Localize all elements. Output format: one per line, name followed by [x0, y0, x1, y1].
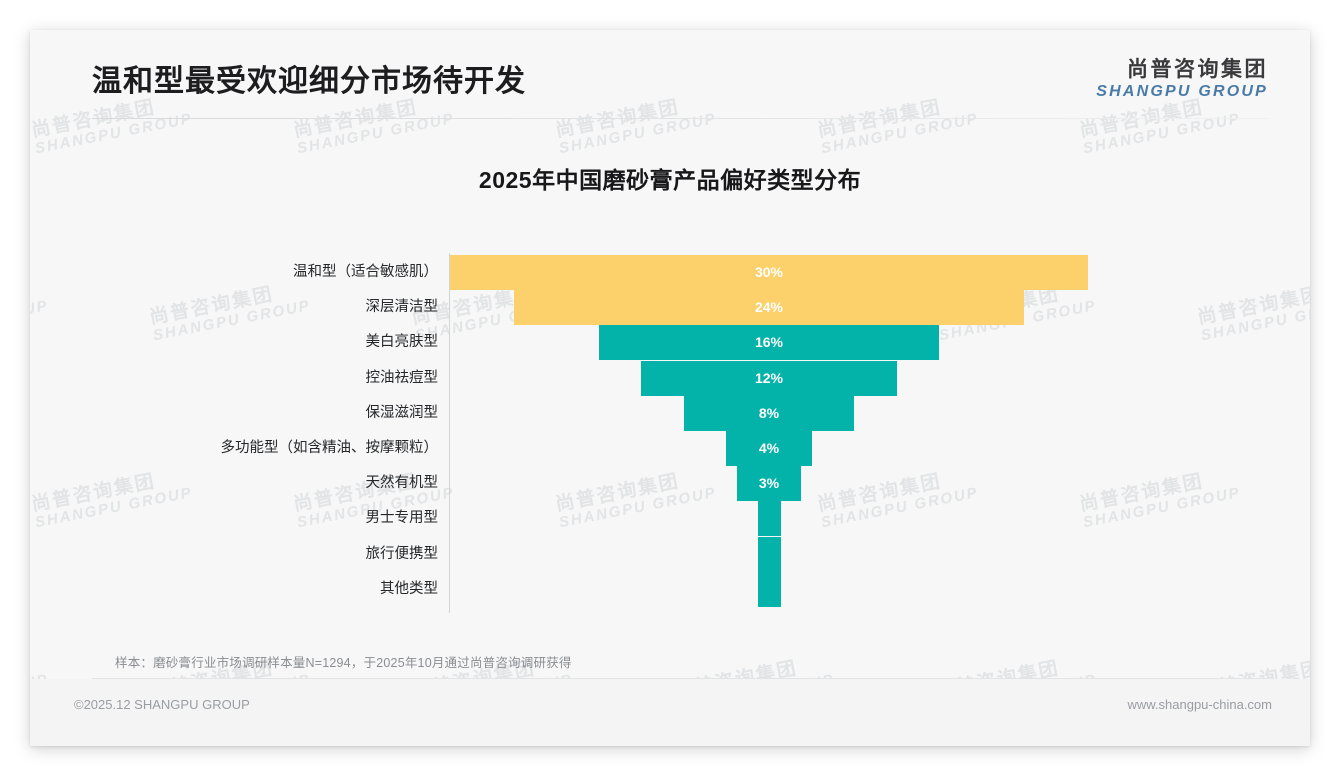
slide-footer: ©2025.12 SHANGPU GROUP www.shangpu-china…: [30, 679, 1310, 746]
bar[interactable]: [758, 501, 781, 536]
bar-row: 旅行便携型: [30, 537, 1310, 572]
bar-row: 美白亮肤型16%: [30, 325, 1310, 360]
chart-area: 2025年中国磨砂膏产品偏好类型分布 温和型（适合敏感肌）30%深层清洁型24%…: [30, 119, 1310, 679]
bar-category-label: 男士专用型: [366, 501, 452, 536]
bar-row: 天然有机型3%: [30, 466, 1310, 501]
bar-category-label: 旅行便携型: [366, 537, 452, 572]
slide-canvas: 尚普咨询集团SHANGPU GROUP尚普咨询集团SHANGPU GROUP尚普…: [30, 30, 1310, 746]
brand-logo-cn: 尚普咨询集团: [1096, 58, 1268, 82]
bar-value-label: 30%: [450, 255, 1088, 290]
brand-logo: 尚普咨询集团 SHANGPU GROUP: [1096, 58, 1268, 101]
bar-row: 温和型（适合敏感肌）30%: [30, 255, 1310, 290]
bar-category-label: 控油祛痘型: [366, 361, 452, 396]
funnel-bar-chart: 温和型（适合敏感肌）30%深层清洁型24%美白亮肤型16%控油祛痘型12%保湿滋…: [30, 251, 1310, 623]
bar-row: 控油祛痘型12%: [30, 361, 1310, 396]
bar-category-label: 深层清洁型: [366, 290, 452, 325]
brand-logo-en: SHANGPU GROUP: [1096, 82, 1268, 101]
bar[interactable]: [758, 572, 781, 607]
bar-category-label: 美白亮肤型: [366, 325, 452, 360]
header-divider: [92, 118, 1270, 119]
chart-footnote: 样本：磨砂膏行业市场调研样本量N=1294，于2025年10月通过尚普咨询调研获…: [115, 652, 572, 671]
bar-row: 多功能型（如含精油、按摩颗粒）4%: [30, 431, 1310, 466]
bar-value-label: 4%: [726, 431, 811, 466]
bar[interactable]: [758, 537, 781, 572]
bar-row: 男士专用型: [30, 501, 1310, 536]
bar-category-label: 天然有机型: [366, 466, 452, 501]
bar-value-label: 16%: [599, 325, 939, 360]
chart-title: 2025年中国磨砂膏产品偏好类型分布: [30, 161, 1310, 195]
bar-value-label: 24%: [514, 290, 1024, 325]
bar-value-label: 12%: [641, 361, 896, 396]
bar-row: 保湿滋润型8%: [30, 396, 1310, 431]
page-title: 温和型最受欢迎细分市场待开发: [92, 56, 526, 100]
bar-category-label: 保湿滋润型: [366, 396, 452, 431]
copyright-text: ©2025.12 SHANGPU GROUP: [74, 697, 250, 712]
bar-category-label: 其他类型: [380, 572, 451, 607]
bar-value-label: 8%: [684, 396, 854, 431]
bar-row: 其他类型: [30, 572, 1310, 607]
website-link[interactable]: www.shangpu-china.com: [1127, 697, 1272, 712]
slide-header: 温和型最受欢迎细分市场待开发 尚普咨询集团 SHANGPU GROUP: [30, 30, 1310, 119]
bar-category-label: 多功能型（如含精油、按摩颗粒）: [221, 431, 452, 466]
bar-value-label: 3%: [737, 466, 801, 501]
bar-row: 深层清洁型24%: [30, 290, 1310, 325]
bar-category-label: 温和型（适合敏感肌）: [293, 255, 451, 290]
